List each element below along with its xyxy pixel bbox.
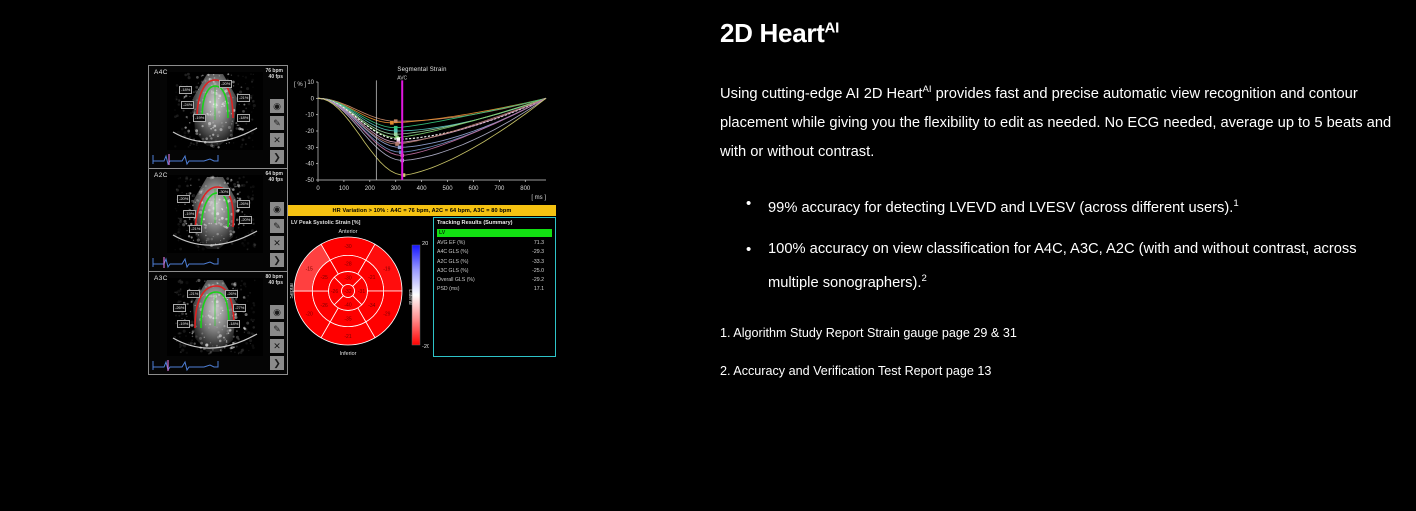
tracking-row-label: AVG EF (%) [437, 239, 465, 248]
svg-text:200: 200 [365, 186, 376, 192]
svg-text:-40: -40 [305, 162, 314, 168]
segment-strain-tag: -20% [219, 80, 232, 88]
next-icon[interactable]: ❯ [270, 356, 284, 370]
tracking-row: A4C GLS (%)-29.3 [437, 248, 552, 257]
segment-strain-tag: -21% [187, 290, 200, 298]
feature-bullet-list: 99% accuracy for detecting LVEVD and LVE… [746, 189, 1400, 298]
tracking-row-value: 71.3 [534, 239, 552, 248]
svg-text:10: 10 [307, 80, 314, 86]
frame-rate-value: 40 fps [265, 177, 283, 183]
bullseye-svg: -30-19-29-21-20-15-28-21-34-35-26-25-30-… [290, 227, 408, 372]
tracking-row: Overall GLS (%)-29.2 [437, 276, 552, 285]
svg-text:-20: -20 [305, 129, 314, 135]
view-toolbar: ◉✎✕❯ [270, 96, 285, 164]
tracking-lv-header[interactable]: LV [437, 229, 552, 237]
tracking-rows: AVG EF (%)71.3A4C GLS (%)-29.3A2C GLS (%… [437, 239, 552, 295]
svg-text:-50: -50 [305, 178, 314, 184]
svg-text:-26: -26 [331, 289, 338, 295]
tracking-row-value: -29.2 [532, 276, 552, 285]
segmental-strain-chart: Segmental Strain [ % ]100-10-20-30-40-50… [288, 65, 556, 204]
strain-plot-svg: [ % ]100-10-20-30-40-5001002003004005006… [288, 74, 556, 204]
tracking-row-label: A4C GLS (%) [437, 248, 468, 257]
bullseye-orientation-label: Septal [290, 283, 295, 298]
echo-image [167, 72, 263, 150]
page-title-main: 2D Heart [720, 18, 825, 48]
tracking-row-value: -25.0 [532, 267, 552, 276]
svg-text:-28: -28 [344, 261, 351, 267]
colorbar-max-label: 20 [422, 241, 428, 247]
page-title: 2D HeartAI [720, 18, 1400, 49]
tracking-row: PSD (ms)17.1 [437, 285, 552, 294]
svg-text:-30: -30 [344, 276, 351, 282]
tracking-row-value: -33.3 [532, 258, 552, 267]
intro-superscript: AI [922, 84, 931, 95]
tracking-row-label: A3C GLS (%) [437, 267, 468, 276]
svg-text:-32: -32 [344, 289, 351, 295]
segment-strain-tag: -30% [217, 188, 230, 196]
svg-text:-20: -20 [306, 311, 313, 317]
segment-strain-tag: -24% [181, 101, 194, 109]
segment-strain-tag: -20% [177, 195, 190, 203]
echo-image [167, 278, 263, 356]
tracking-row-value: 17.1 [534, 285, 552, 294]
svg-text:400: 400 [417, 186, 428, 192]
next-icon[interactable]: ❯ [270, 150, 284, 164]
list-item: 100% accuracy on view classification for… [746, 235, 1400, 298]
view-panel-column: A4C76 bpm40 fps-18%-20%-21%-24%-19%-18%◉… [148, 65, 288, 374]
pencil-icon[interactable]: ✎ [270, 116, 284, 130]
ecg-trace [152, 358, 220, 372]
svg-text:800: 800 [520, 186, 531, 192]
segment-strain-tag: -26% [173, 304, 186, 312]
list-item-text: 99% accuracy for detecting LVEVD and LVE… [768, 200, 1233, 216]
tracking-row-label: Overall GLS (%) [437, 276, 475, 285]
svg-text:-25: -25 [321, 275, 328, 281]
segment-strain-tag: -26% [237, 200, 250, 208]
svg-text:-34: -34 [368, 303, 375, 309]
segment-strain-tag: -18% [227, 320, 240, 328]
list-item: 99% accuracy for detecting LVEVD and LVE… [746, 189, 1400, 223]
segment-strain-tag: -19% [183, 210, 196, 218]
footnote: 1. Algorithm Study Report Strain gauge p… [720, 324, 1400, 342]
tracking-row-label: A2C GLS (%) [437, 258, 468, 267]
svg-text:-15: -15 [306, 267, 313, 273]
svg-text:-26: -26 [321, 303, 328, 309]
tracking-row: A3C GLS (%)-25.0 [437, 267, 552, 276]
segment-strain-tag: -18% [179, 86, 192, 94]
svg-text:[ ms ]: [ ms ] [531, 195, 546, 201]
svg-text:[ % ]: [ % ] [294, 82, 306, 88]
view-label: A3C [154, 275, 168, 282]
segment-strain-tag: -20% [239, 216, 252, 224]
bullseye-title: LV Peak Systolic Strain [%] [288, 217, 431, 226]
tracking-row-label: PSD (ms) [437, 285, 459, 294]
svg-text:-29: -29 [383, 311, 390, 317]
view-toolbar: ◉✎✕❯ [270, 302, 285, 370]
svg-text:-30: -30 [305, 145, 314, 151]
view-label: A2C [154, 172, 168, 179]
tracking-row-value: -29.3 [532, 248, 552, 257]
close-icon[interactable]: ✕ [270, 133, 284, 147]
list-item-text: 100% accuracy on view classification for… [768, 241, 1357, 291]
intro-text-a: Using cutting-edge AI 2D Heart [720, 86, 922, 102]
frame-rate-value: 40 fps [265, 280, 283, 286]
eye-icon[interactable]: ◉ [270, 99, 284, 113]
view-panel-a3c[interactable]: A3C80 bpm40 fps-21%-26%-26%-27%-19%-18%◉… [148, 271, 288, 375]
footnote: 2. Accuracy and Verification Test Report… [720, 362, 1400, 380]
bullseye-orientation-label: Lateral [407, 289, 413, 304]
ecg-trace [152, 152, 220, 166]
close-icon[interactable]: ✕ [270, 236, 284, 250]
strain-chart-title: Segmental Strain [288, 65, 556, 73]
tracking-results-table: Tracking Results (Summary) LV AVG EF (%)… [433, 217, 556, 357]
svg-text:-30: -30 [344, 244, 351, 250]
eye-icon[interactable]: ◉ [270, 305, 284, 319]
ultrasound-screenshot: A4C76 bpm40 fps-18%-20%-21%-24%-19%-18%◉… [148, 65, 556, 374]
tracking-results-title: Tracking Results (Summary) [437, 220, 552, 226]
svg-text:-21: -21 [368, 275, 375, 281]
view-rate: 76 bpm40 fps [265, 68, 283, 80]
bullseye-orientation-label: Anterior [339, 229, 358, 235]
tracking-row: A2C GLS (%)-33.3 [437, 258, 552, 267]
slide-root: A4C76 bpm40 fps-18%-20%-21%-24%-19%-18%◉… [0, 0, 1416, 511]
eye-icon[interactable]: ◉ [270, 202, 284, 216]
marketing-copy: 2D HeartAI Using cutting-edge AI 2D Hear… [720, 18, 1400, 380]
view-toolbar: ◉✎✕❯ [270, 199, 285, 267]
segment-strain-tag: -27% [233, 304, 246, 312]
svg-text:-10: -10 [305, 113, 314, 119]
footnote-list: 1. Algorithm Study Report Strain gauge p… [720, 324, 1400, 380]
svg-text:-31: -31 [358, 289, 365, 295]
svg-text:-19: -19 [383, 267, 390, 273]
hr-variation-warning: HR Variation > 10% : A4C = 76 bpm, A2C =… [288, 205, 556, 216]
segment-strain-tag: -19% [177, 320, 190, 328]
view-panel-a4c[interactable]: A4C76 bpm40 fps-18%-20%-21%-24%-19%-18%◉… [148, 65, 288, 169]
svg-text:500: 500 [443, 186, 454, 192]
svg-text:-21: -21 [344, 334, 351, 340]
colorbar-min-label: -20 [422, 344, 429, 350]
ecg-trace [152, 255, 220, 269]
segment-strain-tag: -18% [237, 114, 250, 122]
svg-text:300: 300 [391, 186, 402, 192]
analysis-column: Segmental Strain [ % ]100-10-20-30-40-50… [288, 65, 556, 374]
view-label: A4C [154, 69, 168, 76]
svg-text:100: 100 [339, 186, 350, 192]
view-rate: 80 bpm40 fps [265, 274, 283, 286]
footnote-marker: 1 [1233, 198, 1238, 209]
close-icon[interactable]: ✕ [270, 339, 284, 353]
segment-strain-tag: -19% [193, 114, 206, 122]
svg-text:700: 700 [494, 186, 505, 192]
bullseye-orientation-label: Inferior [340, 351, 357, 357]
footnote-marker: 2 [921, 273, 926, 284]
pencil-icon[interactable]: ✎ [270, 219, 284, 233]
echo-image [167, 175, 263, 253]
segment-strain-tag: -26% [225, 290, 238, 298]
next-icon[interactable]: ❯ [270, 253, 284, 267]
pencil-icon[interactable]: ✎ [270, 322, 284, 336]
page-title-superscript: AI [825, 19, 839, 36]
view-panel-a2c[interactable]: A2C64 bpm40 fps-20%-30%-26%-19%-20%-21%◉… [148, 168, 288, 272]
view-rate: 64 bpm40 fps [265, 171, 283, 183]
segment-strain-tag: -21% [189, 225, 202, 233]
svg-text:AVC: AVC [397, 75, 407, 81]
intro-paragraph: Using cutting-edge AI 2D HeartAI provide… [720, 75, 1400, 167]
frame-rate-value: 40 fps [265, 74, 283, 80]
svg-text:-35: -35 [344, 317, 351, 323]
lower-results-area: LV Peak Systolic Strain [%] -30-19-29-21… [288, 217, 556, 374]
bullseye-panel: LV Peak Systolic Strain [%] -30-19-29-21… [288, 217, 431, 374]
svg-text:-40: -40 [344, 303, 351, 309]
segment-strain-tag: -21% [237, 94, 250, 102]
svg-text:600: 600 [468, 186, 479, 192]
tracking-row: AVG EF (%)71.3 [437, 239, 552, 248]
strain-colorbar: 20-20Lateral [407, 235, 429, 357]
